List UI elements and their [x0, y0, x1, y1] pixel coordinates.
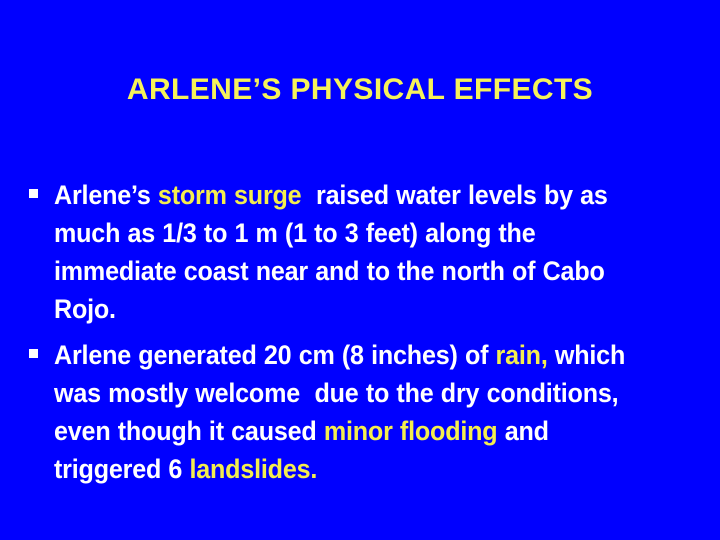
- bullet1-run-2-highlight: storm surge: [158, 180, 302, 210]
- bullet-text-storm-surge: Arlene’s storm surge raised water levels…: [54, 176, 657, 328]
- bullet2-run-1: Arlene generated 20 cm (8 inches) of: [54, 340, 496, 370]
- list-item: Arlene generated 20 cm (8 inches) of rai…: [26, 336, 702, 488]
- bullet2-run-4-highlight: minor flooding: [324, 416, 498, 446]
- bullet2-run-6-highlight: landslides.: [189, 454, 317, 484]
- bullet2-run-2-highlight: rain,: [496, 340, 548, 370]
- list-item: Arlene’s storm surge raised water levels…: [26, 176, 702, 328]
- square-bullet-icon: [29, 349, 38, 358]
- square-bullet-icon: [29, 189, 38, 198]
- page-title: ARLENE’S PHYSICAL EFFECTS: [0, 72, 720, 108]
- bullet-text-rainfall: Arlene generated 20 cm (8 inches) of rai…: [54, 336, 657, 488]
- slide-body: Arlene’s storm surge raised water levels…: [26, 176, 702, 496]
- presentation-slide: ARLENE’S PHYSICAL EFFECTS Arlene’s storm…: [0, 0, 720, 540]
- bullet1-run-1: Arlene’s: [54, 180, 158, 210]
